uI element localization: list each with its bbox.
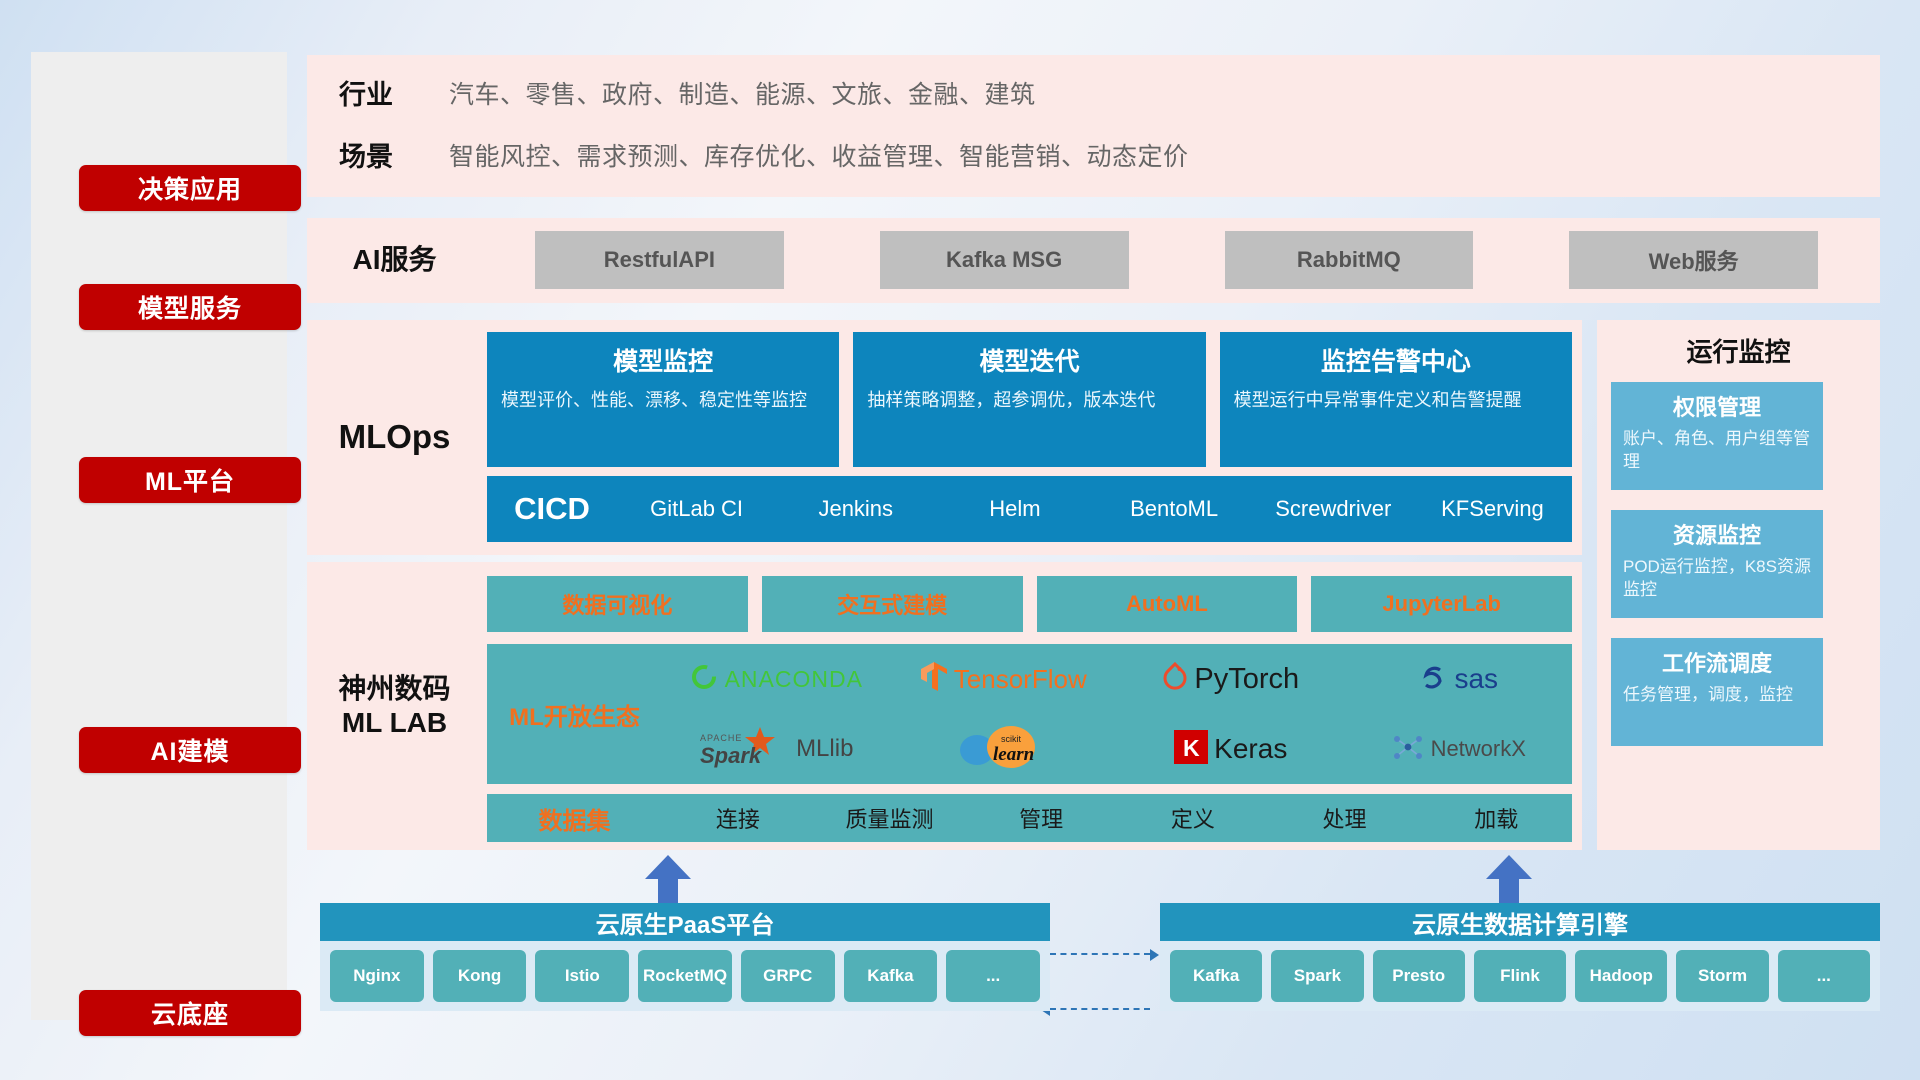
dataset-item-management[interactable]: 管理 [965,802,1117,834]
card-title: 模型监控 [501,342,825,378]
monitor-card-permission[interactable]: 权限管理 账户、角色、用户组等管理 [1611,382,1823,490]
card-title: 工作流调度 [1623,646,1811,678]
dataset-item-connect[interactable]: 连接 [662,802,814,834]
architecture-diagram: 决策应用 模型服务 ML平台 AI建模 云底座 行业 汽车、零售、政府、制造、能… [0,0,1920,1080]
rail-item-ai-modeling[interactable]: AI建模 [79,727,301,773]
cicd-item-jenkins[interactable]: Jenkins [776,497,935,521]
svg-text:learn: learn [993,744,1034,765]
rail-item-label: 模型服务 [138,289,242,325]
pytorch-icon [1162,662,1188,697]
svg-text:Spark: Spark [700,743,763,768]
ml-lab-tool-strip: 数据可视化 交互式建模 AutoML JupyterLab [487,576,1572,632]
scenario-row: 场景 智能风控、需求预测、库存优化、收益管理、智能营销、动态定价 [339,135,1189,174]
logo-label: ANACONDA [725,666,863,693]
up-arrow-paas-icon [645,855,691,907]
cloud-chip-grpc[interactable]: GRPC [741,950,835,1002]
logo-label: Keras [1214,733,1287,765]
cloud-data-engine-group: 云原生数据计算引擎 Kafka Spark Presto Flink Hadoo… [1160,903,1880,1011]
cloud-chip-nginx[interactable]: Nginx [330,950,424,1002]
dashed-arrow-left-icon [1050,1008,1150,1010]
card-title: 模型迭代 [867,342,1191,378]
mlops-card-group: 模型监控 模型评价、性能、漂移、稳定性等监控 模型迭代 抽样策略调整，超参调优，… [487,332,1572,467]
scenario-values: 智能风控、需求预测、库存优化、收益管理、智能营销、动态定价 [449,137,1189,173]
cloud-data-engine-chip-row: Kafka Spark Presto Flink Hadoop Storm ..… [1160,941,1880,1011]
scenario-label: 场景 [339,135,449,174]
monitor-card-resource[interactable]: 资源监控 POD运行监控，K8S资源监控 [1611,510,1823,618]
cicd-bar: CICD GitLab CI Jenkins Helm BentoML Scre… [487,476,1572,542]
cicd-item-bentoml[interactable]: BentoML [1095,497,1254,521]
data-chip-storm[interactable]: Storm [1676,950,1768,1002]
logo-anaconda: ANACONDA [689,662,863,697]
card-title: 资源监控 [1623,518,1811,550]
rail-item-label: AI建模 [150,732,229,768]
mlops-card-model-iteration[interactable]: 模型迭代 抽样策略调整，超参调优，版本迭代 [853,332,1205,467]
logo-label: TensorFlow [954,664,1087,695]
logo-networkx: NetworkX [1391,731,1526,768]
tool-interactive-modeling[interactable]: 交互式建模 [762,576,1023,632]
card-desc: 抽样策略调整，超参调优，版本迭代 [867,388,1191,412]
mlops-row-label: MLOps [307,320,482,555]
data-chip-presto[interactable]: Presto [1373,950,1465,1002]
card-desc: POD运行监控，K8S资源监控 [1623,556,1811,602]
card-desc: 模型评价、性能、漂移、稳定性等监控 [501,388,825,412]
logo-keras: K Keras [1174,730,1287,769]
dataset-title: 数据集 [487,801,662,836]
cloud-data-engine-title: 云原生数据计算引擎 [1160,903,1880,941]
card-title: 权限管理 [1623,390,1811,422]
runtime-monitor-title: 运行监控 [1597,332,1880,369]
ai-service-chip-restfulapi[interactable]: RestfulAPI [535,231,784,289]
logo-label: NetworkX [1431,736,1526,762]
logo-label: MLlib [796,735,853,763]
cloud-chip-kong[interactable]: Kong [433,950,527,1002]
anaconda-icon [689,662,719,697]
dashed-arrow-right-icon [1050,953,1150,955]
sas-icon [1418,662,1448,697]
cicd-item-screwdriver[interactable]: Screwdriver [1254,497,1413,521]
left-rail: 决策应用 模型服务 ML平台 AI建模 云底座 [31,52,287,1020]
monitor-card-workflow[interactable]: 工作流调度 任务管理，调度，监控 [1611,638,1823,746]
ml-ecosystem-logo-grid: ANACONDA TensorFlow PyTorch [662,644,1572,784]
industry-label: 行业 [339,73,449,112]
tensorflow-icon [920,661,948,698]
card-desc: 账户、角色、用户组等管理 [1623,428,1811,474]
mlops-card-alert-center[interactable]: 监控告警中心 模型运行中异常事件定义和告警提醒 [1220,332,1572,467]
spark-icon: APACHE Spark [698,725,790,774]
runtime-monitor-panel: 运行监控 权限管理 账户、角色、用户组等管理 资源监控 POD运行监控，K8S资… [1597,320,1880,850]
data-chip-more[interactable]: ... [1778,950,1870,1002]
cloud-chip-rocketmq[interactable]: RocketMQ [638,950,732,1002]
ml-lab-row-label: 神州数码 ML LAB [307,562,482,850]
ai-service-chip-rabbitmq[interactable]: RabbitMQ [1225,231,1474,289]
ml-lab-label-line1: 神州数码 [338,672,450,706]
logo-label: PyTorch [1194,663,1299,696]
cloud-paas-group: 云原生PaaS平台 Nginx Kong Istio RocketMQ GRPC… [320,903,1050,1011]
ml-ecosystem-band: ML开放生态 ANACONDA TensorFlow [487,644,1572,784]
card-desc: 模型运行中异常事件定义和告警提醒 [1234,388,1558,412]
logo-spark-mllib: APACHE Spark MLlib [698,725,853,774]
rail-item-cloud-foundation[interactable]: 云底座 [79,990,301,1036]
logo-label: sas [1454,663,1498,695]
cicd-item-kfserving[interactable]: KFServing [1413,497,1572,521]
ai-service-panel: RestfulAPI Kafka MSG RabbitMQ Web服务 [307,218,1880,303]
rail-item-decision-apps[interactable]: 决策应用 [79,165,301,211]
tool-jupyterlab[interactable]: JupyterLab [1311,576,1572,632]
logo-scikit-learn: scikit learn [955,724,1051,775]
svg-text:APACHE: APACHE [700,733,742,743]
decision-apps-panel: 行业 汽车、零售、政府、制造、能源、文旅、金融、建筑 场景 智能风控、需求预测、… [307,55,1880,197]
ai-service-row-label: AI服务 [307,218,482,303]
svg-text:K: K [1183,735,1200,761]
rail-item-ml-platform[interactable]: ML平台 [79,457,301,503]
dataset-item-processing[interactable]: 处理 [1269,802,1421,834]
rail-item-model-service[interactable]: 模型服务 [79,284,301,330]
rail-item-label: 决策应用 [138,170,242,206]
cicd-title: CICD [487,491,617,527]
cicd-item-helm[interactable]: Helm [935,497,1094,521]
logo-pytorch: PyTorch [1162,662,1299,697]
mlops-card-model-monitoring[interactable]: 模型监控 模型评价、性能、漂移、稳定性等监控 [487,332,839,467]
rail-item-label: 云底座 [151,995,229,1031]
cloud-paas-chip-row: Nginx Kong Istio RocketMQ GRPC Kafka ... [320,941,1050,1011]
dataset-item-definition[interactable]: 定义 [1117,802,1269,834]
card-title: 监控告警中心 [1234,342,1558,378]
ml-ecosystem-title: ML开放生态 [487,697,662,732]
cloud-paas-title: 云原生PaaS平台 [320,903,1050,941]
scikit-learn-icon: scikit learn [955,724,1051,775]
dataset-item-quality-monitoring[interactable]: 质量监测 [814,802,966,834]
ml-lab-panel: 数据可视化 交互式建模 AutoML JupyterLab ML开放生态 ANA… [307,562,1582,850]
ai-service-chip-kafka-msg[interactable]: Kafka MSG [880,231,1129,289]
data-chip-spark[interactable]: Spark [1271,950,1363,1002]
cloud-chip-more[interactable]: ... [946,950,1040,1002]
cloud-chip-istio[interactable]: Istio [535,950,629,1002]
ai-service-chip-strip: RestfulAPI Kafka MSG RabbitMQ Web服务 [487,231,1866,289]
rail-item-label: ML平台 [145,462,235,498]
logo-tensorflow: TensorFlow [920,661,1087,698]
data-chip-flink[interactable]: Flink [1474,950,1566,1002]
industry-values: 汽车、零售、政府、制造、能源、文旅、金融、建筑 [449,75,1036,111]
dataset-bar: 数据集 连接 质量监测 管理 定义 处理 加载 [487,794,1572,842]
up-arrow-data-engine-icon [1486,855,1532,907]
cloud-chip-kafka[interactable]: Kafka [844,950,938,1002]
tool-automl[interactable]: AutoML [1037,576,1298,632]
industry-row: 行业 汽车、零售、政府、制造、能源、文旅、金融、建筑 [339,73,1036,112]
logo-sas: sas [1418,662,1498,697]
tool-data-visualization[interactable]: 数据可视化 [487,576,748,632]
networkx-icon [1391,731,1425,768]
data-chip-hadoop[interactable]: Hadoop [1575,950,1667,1002]
ai-service-chip-web[interactable]: Web服务 [1569,231,1818,289]
mlops-panel: 模型监控 模型评价、性能、漂移、稳定性等监控 模型迭代 抽样策略调整，超参调优，… [307,320,1582,555]
data-chip-kafka[interactable]: Kafka [1170,950,1262,1002]
cicd-item-gitlab-ci[interactable]: GitLab CI [617,497,776,521]
ml-lab-label-line2: ML LAB [342,706,447,740]
dataset-item-loading[interactable]: 加载 [1420,802,1572,834]
card-desc: 任务管理，调度，监控 [1623,684,1811,707]
svg-text:scikit: scikit [1001,734,1021,744]
keras-icon: K [1174,730,1208,769]
